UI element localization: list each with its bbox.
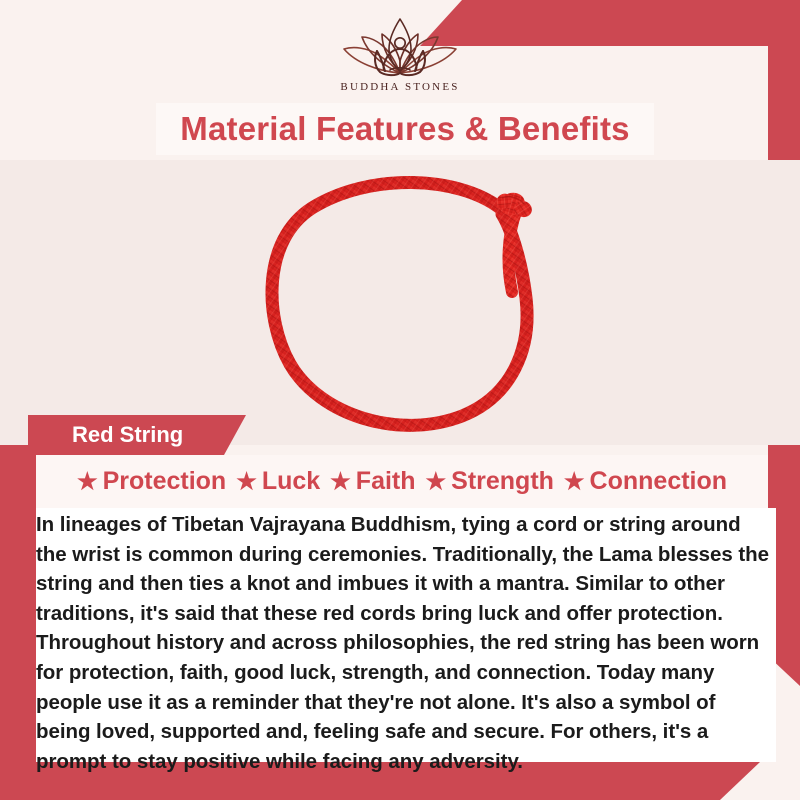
star-icon: ★	[426, 470, 447, 493]
brand-name: BUDDHA STONES	[340, 81, 459, 93]
benefit-item-protection: ★ Protection	[73, 467, 230, 496]
product-label-text: Red String	[72, 422, 183, 448]
page-title: Material Features & Benefits	[156, 103, 654, 155]
description-text: In lineages of Tibetan Vajrayana Buddhis…	[36, 508, 776, 776]
benefit-label: Connection	[590, 467, 728, 496]
star-icon: ★	[564, 470, 585, 493]
star-icon: ★	[330, 470, 351, 493]
benefits-list: ★ Protection ★ Luck ★ Faith ★ Strength ★…	[36, 455, 768, 508]
lotus-meditation-icon	[334, 16, 466, 78]
infographic-page: BUDDHA STONES Material Features & Benefi…	[0, 0, 800, 800]
page-title-text: Material Features & Benefits	[180, 110, 629, 148]
benefit-item-luck: ★ Luck	[232, 467, 324, 496]
star-icon: ★	[77, 470, 98, 493]
benefit-label: Faith	[356, 467, 416, 496]
brand-logo: BUDDHA STONES	[0, 16, 800, 93]
product-image-red-string-bracelet	[250, 168, 580, 440]
benefit-item-strength: ★ Strength	[422, 467, 558, 496]
product-label-ribbon: Red String	[28, 415, 246, 455]
description-card: In lineages of Tibetan Vajrayana Buddhis…	[36, 508, 776, 762]
benefit-label: Luck	[262, 467, 320, 496]
benefit-item-connection: ★ Connection	[560, 467, 731, 496]
benefit-item-faith: ★ Faith	[326, 467, 419, 496]
benefit-label: Strength	[451, 467, 554, 496]
benefit-label: Protection	[103, 467, 227, 496]
star-icon: ★	[236, 470, 257, 493]
